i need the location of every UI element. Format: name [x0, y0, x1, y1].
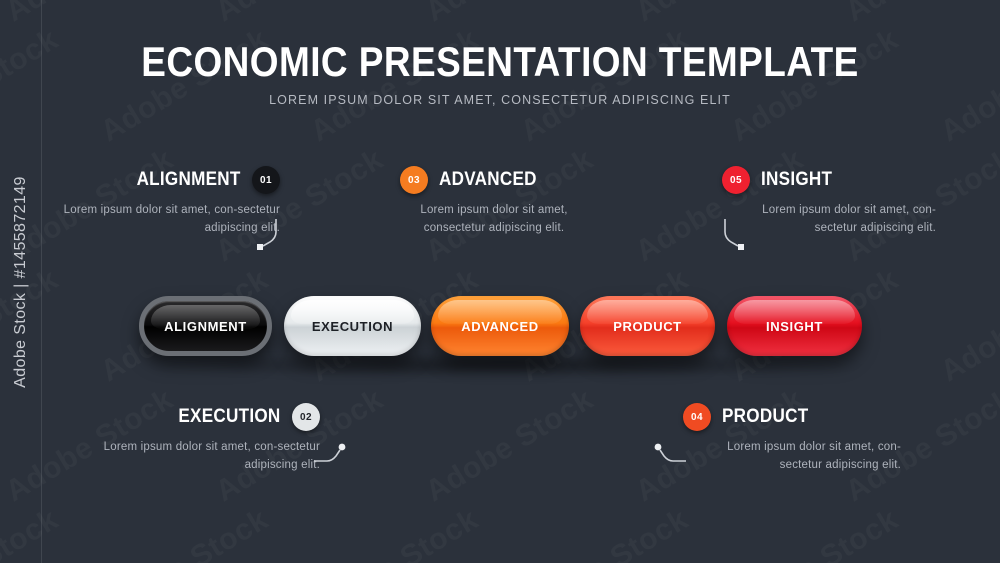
item-head-insight: 05 INSIGHT: [722, 166, 937, 194]
watermark-text: Adobe Stock: [210, 0, 389, 29]
header: ECONOMIC PRESENTATION TEMPLATE LOREM IPS…: [0, 40, 1000, 107]
attribution-bar: Adobe Stock | #1455872149: [0, 0, 42, 563]
page-title: ECONOMIC PRESENTATION TEMPLATE: [60, 40, 940, 84]
item-block-alignment: ALIGNMENT 01 Lorem ipsum dolor sit amet,…: [60, 166, 280, 238]
pill-label-insight: INSIGHT: [766, 319, 823, 334]
pill-label-product: PRODUCT: [613, 319, 681, 334]
pill-row: ALIGNMENT EXECUTION ADVANCED PRODUCT INS…: [0, 296, 1000, 356]
item-badge-01: 01: [252, 166, 280, 194]
pill-label-advanced: ADVANCED: [461, 319, 539, 334]
watermark-text: Adobe Stock: [515, 503, 694, 563]
watermark-text: Adobe Stock: [630, 0, 809, 29]
watermark-text: Adobe Stock: [305, 503, 484, 563]
item-head-alignment: ALIGNMENT 01: [60, 166, 280, 194]
item-description-product: Lorem ipsum dolor sit amet, con-sectetur…: [701, 439, 901, 475]
item-title-insight: INSIGHT: [761, 169, 832, 191]
pill-button-alignment[interactable]: ALIGNMENT: [139, 296, 272, 356]
connector-line-01: [255, 218, 281, 252]
item-description-insight: Lorem ipsum dolor sit amet, con-sectetur…: [736, 202, 936, 238]
item-badge-04: 04: [683, 403, 711, 431]
pill-button-advanced[interactable]: ADVANCED: [431, 296, 569, 356]
watermark-text: Adobe Stock: [725, 503, 904, 563]
pill-button-product[interactable]: PRODUCT: [580, 296, 715, 356]
item-head-advanced: 03 ADVANCED: [400, 166, 600, 194]
item-title-alignment: ALIGNMENT: [137, 169, 241, 191]
item-title-product: PRODUCT: [722, 406, 808, 428]
watermark-text: Adobe Stock: [420, 383, 599, 509]
item-block-insight: 05 INSIGHT Lorem ipsum dolor sit amet, c…: [722, 166, 937, 238]
connector-line-05: [720, 218, 746, 252]
pill-label-alignment: ALIGNMENT: [164, 319, 247, 334]
connector-line-04: [653, 440, 687, 466]
item-block-product: 04 PRODUCT Lorem ipsum dolor sit amet, c…: [683, 403, 903, 475]
item-block-execution: EXECUTION 02 Lorem ipsum dolor sit amet,…: [100, 403, 320, 475]
item-badge-02: 02: [292, 403, 320, 431]
pill-label-execution: EXECUTION: [312, 319, 393, 334]
watermark-text: Adobe Stock: [935, 503, 1000, 563]
item-description-alignment: Lorem ipsum dolor sit amet, con-sectetur…: [60, 202, 280, 238]
watermark-text: Adobe Stock: [420, 0, 599, 29]
item-title-execution: EXECUTION: [179, 406, 281, 428]
item-badge-05: 05: [722, 166, 750, 194]
pill-button-execution[interactable]: EXECUTION: [284, 296, 421, 356]
item-description-advanced: Lorem ipsum dolor sit amet, consectetur …: [396, 202, 592, 238]
item-head-product: 04 PRODUCT: [683, 403, 903, 431]
item-head-execution: EXECUTION 02: [100, 403, 320, 431]
pill-button-insight[interactable]: INSIGHT: [727, 296, 862, 356]
item-description-execution: Lorem ipsum dolor sit amet, con-sectetur…: [100, 439, 320, 475]
page-subtitle: LOREM IPSUM DOLOR SIT AMET, CONSECTETUR …: [0, 93, 1000, 107]
connector-line-02: [313, 440, 347, 466]
item-title-advanced: ADVANCED: [439, 169, 537, 191]
item-badge-03: 03: [400, 166, 428, 194]
watermark-text: Adobe Stock: [95, 503, 274, 563]
item-block-advanced: 03 ADVANCED Lorem ipsum dolor sit amet, …: [400, 166, 600, 238]
watermark-text: Adobe Stock: [840, 0, 1000, 29]
